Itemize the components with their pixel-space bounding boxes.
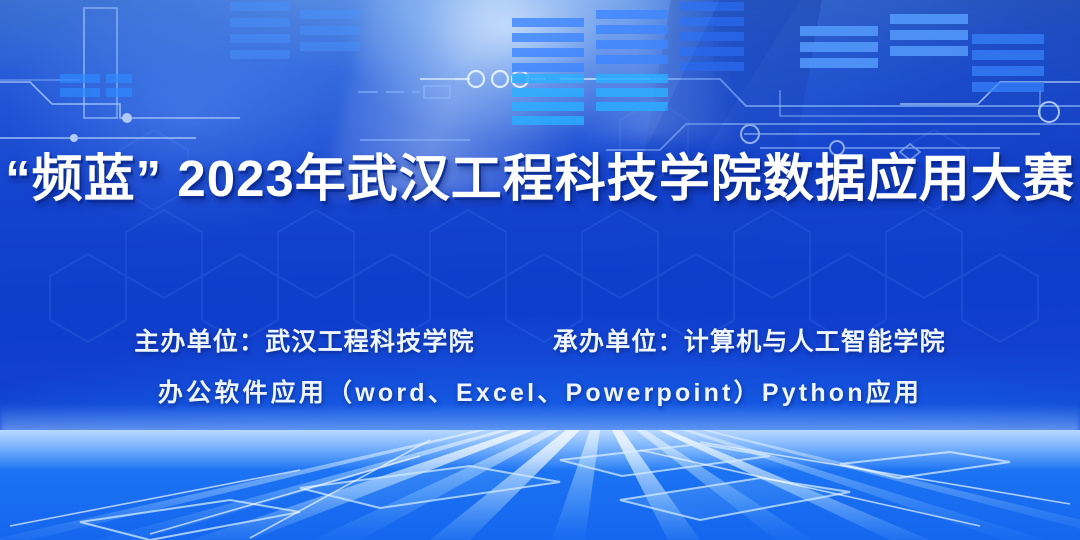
banner-poster: “频蓝” 2023年武汉工程科技学院数据应用大赛 主办单位：武汉工程科技学院 承… [0,0,1080,540]
competition-categories-label: 办公软件应用（word、Excel、Powerpoint）Python应用 [0,373,1080,409]
organizer-row: 主办单位：武汉工程科技学院 承办单位：计算机与人工智能学院 [0,322,1080,358]
page-title: “频蓝” 2023年武汉工程科技学院数据应用大赛 [0,152,1080,206]
host-organization-label: 主办单位：武汉工程科技学院 [134,322,475,358]
undertaker-organization-label: 承办单位：计算机与人工智能学院 [553,322,946,358]
banner-text-content: “频蓝” 2023年武汉工程科技学院数据应用大赛 主办单位：武汉工程科技学院 承… [0,0,1080,540]
